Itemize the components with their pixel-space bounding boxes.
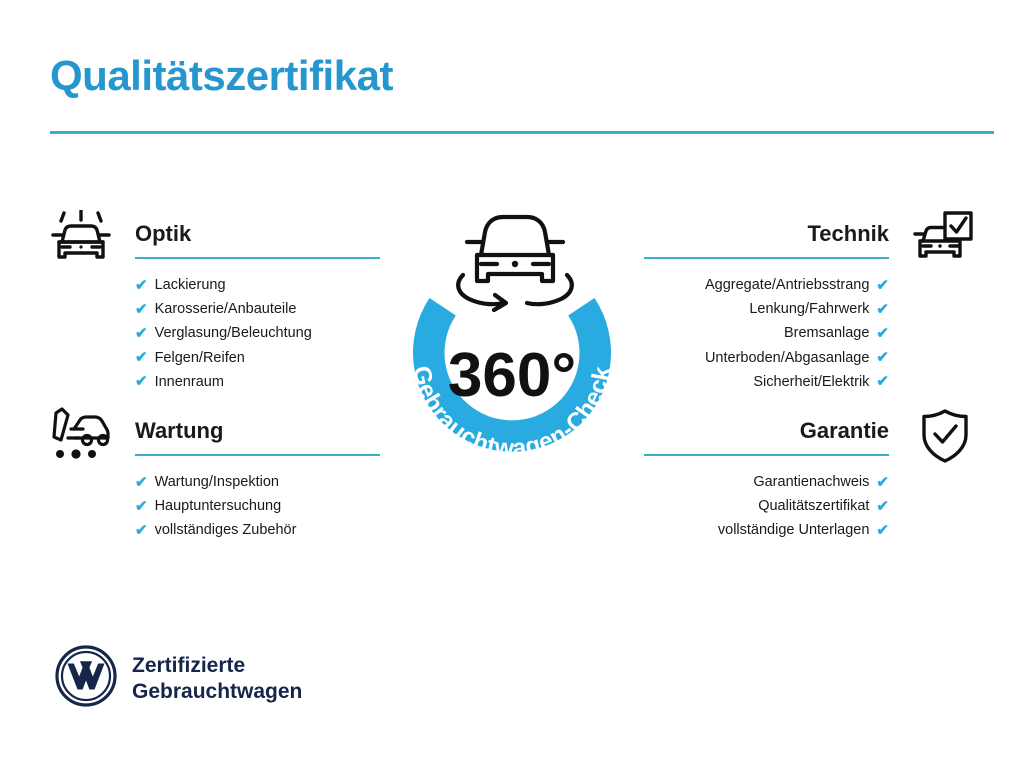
list-item: vollständige Unterlagen✔ (554, 518, 974, 542)
footer-brand: Zertifizierte Gebrauchtwagen (55, 645, 302, 712)
car-rotate-360-icon (458, 217, 572, 310)
list-item: ✔vollständiges Zubehör (50, 518, 470, 542)
check-icon: ✔ (876, 499, 889, 514)
list-item-label: Aggregate/Antriebsstrang (705, 273, 869, 297)
list-item-label: Lenkung/Fahrwerk (749, 297, 869, 321)
check-icon: ✔ (135, 374, 148, 389)
check-icon: ✔ (135, 278, 148, 293)
check-icon: ✔ (135, 499, 148, 514)
check-icon: ✔ (135, 326, 148, 341)
section-garantie-divider (644, 454, 889, 456)
check-icon: ✔ (135, 475, 148, 490)
list-item-label: Bremsanlage (784, 321, 869, 345)
vw-wordmark-line1: Zertifizierte (132, 653, 302, 679)
list-item: ✔Hauptuntersuchung (50, 494, 470, 518)
check-icon: ✔ (876, 475, 889, 490)
list-item-label: Verglasung/Beleuchtung (155, 321, 312, 345)
list-item-label: Hauptuntersuchung (155, 494, 282, 518)
list-item-label: Sicherheit/Elektrik (753, 370, 869, 394)
check-icon: ✔ (135, 302, 148, 317)
list-item-label: Unterboden/Abgasanlage (705, 346, 869, 370)
section-technik-divider (644, 257, 889, 259)
list-item-label: Lackierung (155, 273, 226, 297)
title-divider (50, 131, 994, 134)
check-icon: ✔ (876, 326, 889, 341)
list-item-label: Innenraum (155, 370, 224, 394)
section-wartung-divider (135, 454, 380, 456)
car-front-shine-icon (50, 209, 118, 269)
list-item: Qualitätszertifikat✔ (554, 494, 974, 518)
list-item-label: vollständiges Zubehör (155, 518, 297, 542)
check-icon: ✔ (876, 278, 889, 293)
badge-center-label: 360° (448, 341, 576, 410)
vw-roundel-logo (55, 645, 117, 712)
car-front-checkbox-icon (906, 209, 974, 269)
vw-wordmark: Zertifizierte Gebrauchtwagen (132, 653, 302, 705)
certificate-page: Qualitätszertifikat (0, 0, 1024, 768)
check-icon: ✔ (135, 350, 148, 365)
list-item-label: Felgen/Reifen (155, 346, 245, 370)
check-icon: ✔ (876, 523, 889, 538)
list-item-label: Karosserie/Anbauteile (155, 297, 297, 321)
vw-wordmark-line2: Gebrauchtwagen (132, 679, 302, 705)
check-icon: ✔ (876, 374, 889, 389)
badge-360-gebrauchtwagen-check: 360° Gebrauchtwagen-Check (377, 197, 647, 487)
check-icon: ✔ (876, 350, 889, 365)
list-item-label: Wartung/Inspektion (155, 470, 279, 494)
list-item-label: Garantienachweis (753, 470, 869, 494)
shield-check-icon (906, 406, 974, 466)
page-title: Qualitätszertifikat (50, 52, 393, 100)
check-icon: ✔ (876, 302, 889, 317)
list-item-label: vollständige Unterlagen (718, 518, 870, 542)
list-item-label: Qualitätszertifikat (758, 494, 869, 518)
check-icon: ✔ (135, 523, 148, 538)
section-optik-divider (135, 257, 380, 259)
car-dipstick-oil-drops-icon (50, 406, 118, 466)
